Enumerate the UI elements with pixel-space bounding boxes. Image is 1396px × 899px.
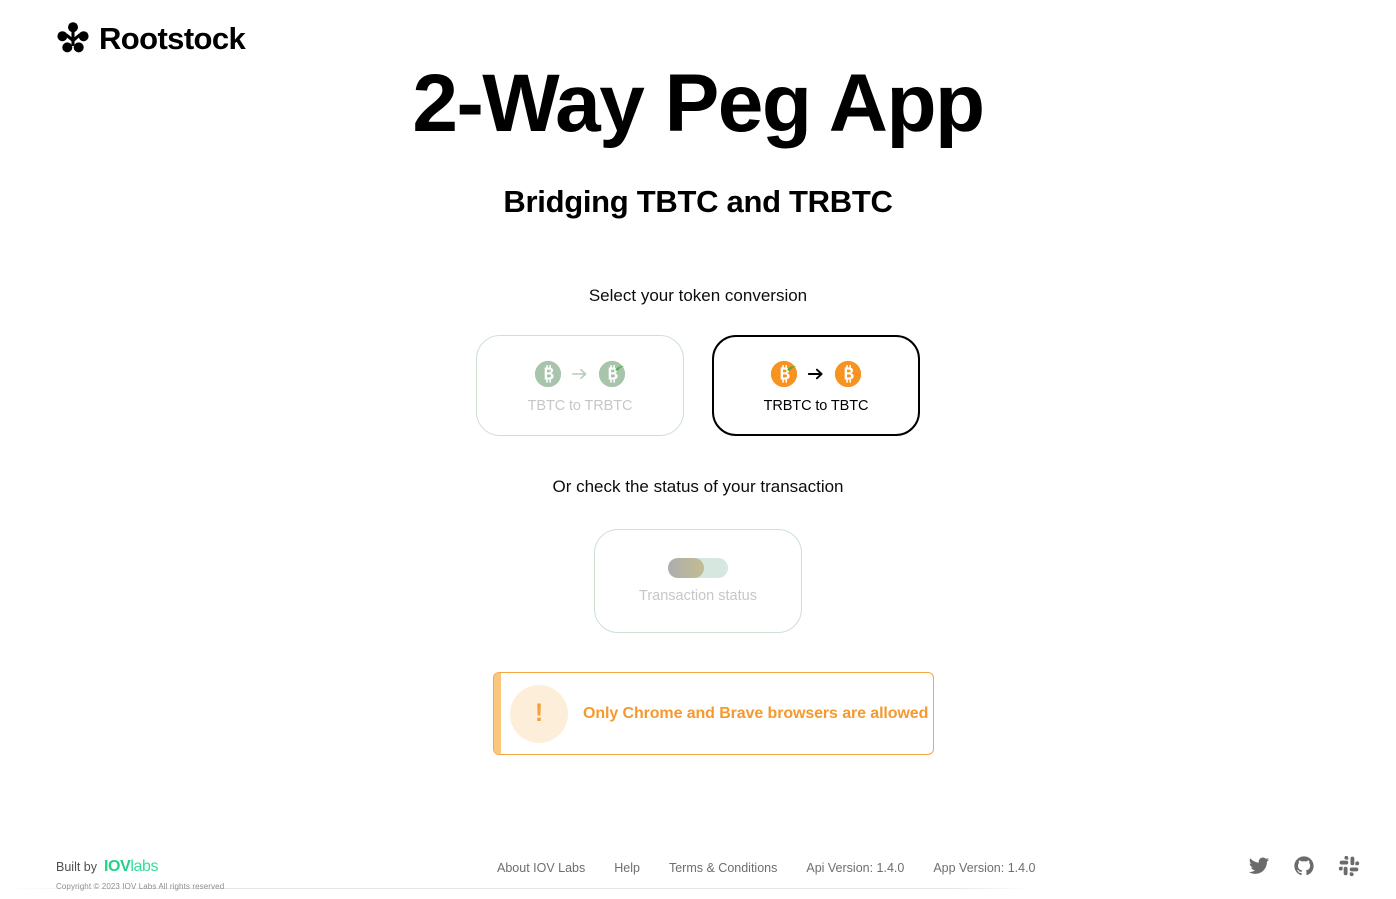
warning-accent-bar [494, 673, 501, 754]
arrow-right-icon [571, 366, 589, 382]
rootstock-bitcoin-coin-icon [598, 360, 626, 388]
github-icon[interactable] [1293, 855, 1315, 877]
footer-api-version: Api Version: 1.4.0 [806, 861, 904, 875]
conversion-icons [534, 358, 626, 390]
copyright-text: Copyright © 2023 IOV Labs All rights res… [56, 882, 224, 891]
hero-section: 2-Way Peg App Bridging TBTC and TRBTC [0, 62, 1396, 220]
page-root: Rootstock 2-Way Peg App Bridging TBTC an… [0, 0, 1396, 899]
footer-links: About IOV Labs Help Terms & Conditions A… [497, 861, 1036, 875]
conversion-option-label: TRBTC to TBTC [764, 398, 869, 414]
iovlabs-logo[interactable]: IOVlabs [104, 859, 158, 875]
conversion-icons [770, 358, 862, 390]
footer-link-help[interactable]: Help [614, 861, 640, 875]
conversion-option-label: TBTC to TRBTC [528, 398, 633, 414]
footer: Built by IOVlabs Copyright © 2023 IOV La… [0, 845, 1396, 899]
status-pill-icon [668, 558, 728, 578]
iovlabs-logo-bold: IOV [104, 858, 130, 875]
slack-icon[interactable] [1338, 855, 1360, 877]
bitcoin-coin-icon [534, 360, 562, 388]
rootstock-flower-icon [56, 22, 90, 54]
arrow-right-icon [807, 366, 825, 382]
exclamation-icon: ! [510, 685, 568, 743]
browser-warning-banner: ! Only Chrome and Brave browsers are all… [493, 672, 934, 755]
conversion-section-label: Select your token conversion [0, 286, 1396, 306]
brand-wordmark: Rootstock [99, 23, 245, 54]
brand-logo[interactable]: Rootstock [56, 22, 245, 54]
built-by: Built by IOVlabs [56, 859, 224, 875]
status-section: Transaction status [0, 529, 1396, 633]
transaction-status-card[interactable]: Transaction status [594, 529, 802, 633]
footer-link-about-iov-labs[interactable]: About IOV Labs [497, 861, 585, 875]
iovlabs-logo-light: labs [130, 858, 158, 875]
rootstock-bitcoin-coin-icon [770, 360, 798, 388]
transaction-status-label: Transaction status [639, 588, 757, 604]
page-subtitle: Bridging TBTC and TRBTC [0, 184, 1396, 220]
twitter-icon[interactable] [1248, 855, 1270, 877]
status-section-label: Or check the status of your transaction [0, 477, 1396, 497]
footer-social-links [1248, 855, 1360, 877]
page-title: 2-Way Peg App [0, 62, 1396, 146]
footer-app-version: App Version: 1.4.0 [933, 861, 1035, 875]
footer-left: Built by IOVlabs Copyright © 2023 IOV La… [56, 859, 224, 891]
warning-message: Only Chrome and Brave browsers are allow… [583, 705, 928, 723]
conversion-option-tbtc-to-trbtc[interactable]: TBTC to TRBTC [476, 335, 684, 436]
footer-link-terms-and-conditions[interactable]: Terms & Conditions [669, 861, 777, 875]
conversion-options: TBTC to TRBTC [0, 335, 1396, 436]
bitcoin-coin-icon [834, 360, 862, 388]
built-by-label: Built by [56, 860, 97, 874]
conversion-option-trbtc-to-tbtc[interactable]: TRBTC to TBTC [712, 335, 920, 436]
